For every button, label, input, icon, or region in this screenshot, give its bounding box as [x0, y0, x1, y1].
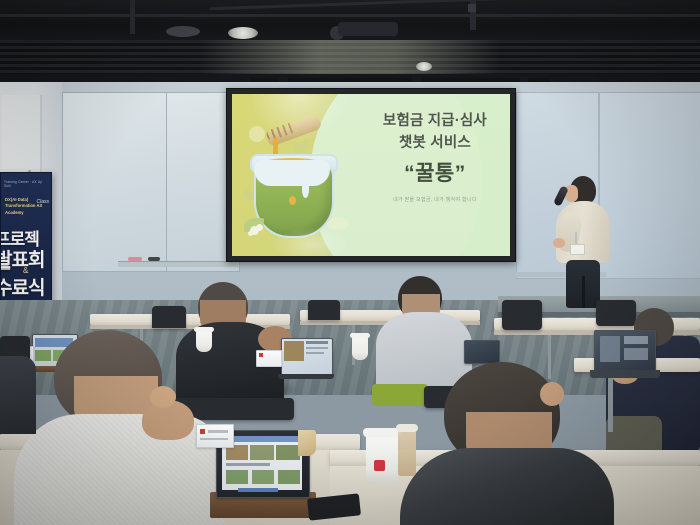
presenter-hand: [553, 238, 565, 248]
iced-drink-cup[interactable]: [398, 430, 416, 476]
projected-slide: 보험금 지급·심사 챗봇 서비스 “꿀통” 내가 받을 보험금, 내가 챙겨야 …: [232, 94, 510, 256]
honey-droplet: [289, 196, 296, 205]
cup-lid: [350, 333, 370, 338]
laptop[interactable]: [464, 340, 500, 364]
laptop-keyboard[interactable]: [590, 370, 660, 378]
audience-torso: [0, 356, 36, 434]
paper-coffee-cup[interactable]: [352, 336, 368, 360]
tablet-text-line: [306, 352, 324, 354]
table-leg: [608, 372, 613, 432]
laptop-window: [624, 348, 648, 360]
ceiling-lamp: [228, 27, 258, 39]
whiteboard-marker[interactable]: [128, 257, 142, 261]
banner-badge: Class: [36, 199, 49, 205]
slide-line-1: 보험금 지급·심사: [365, 110, 504, 132]
banner-korean-line-3: 수료식: [0, 273, 44, 300]
tablet-stand: [278, 374, 334, 379]
name-card-text: [208, 430, 228, 433]
tablet-thumbnail: [250, 445, 274, 460]
tablet-image: [284, 341, 304, 361]
chair[interactable]: [596, 300, 636, 326]
tablet-thumbnail: [276, 445, 300, 460]
table: [90, 314, 290, 325]
laptop-window: [624, 336, 648, 344]
recessed-ceiling-light: [416, 62, 432, 71]
whiteboard-marker[interactable]: [148, 257, 160, 261]
presenter: [548, 176, 616, 308]
jar-drip-overlay: [254, 160, 330, 186]
tablet-taskbar: [238, 488, 278, 492]
whiteboard-marker-tray: [118, 261, 238, 267]
tablet-case-flap: [298, 430, 316, 456]
shirt-texture: [14, 414, 226, 525]
slide-subtitle: 내가 받을 보험금, 내가 챙겨야 합니다: [365, 196, 504, 203]
slide-text-block: 보험금 지급·심사 챗봇 서비스 “꿀통” 내가 받을 보험금, 내가 챙겨야 …: [365, 110, 504, 203]
tablet-text-line: [306, 341, 328, 344]
laptop-window: [600, 336, 620, 362]
paper-coffee-cup[interactable]: [366, 434, 398, 484]
name-card-logo: [259, 353, 263, 357]
audience-torso: [400, 448, 614, 525]
tablet-text-line: [306, 347, 328, 349]
chair[interactable]: [372, 384, 428, 406]
name-card: [196, 424, 234, 448]
whiteboard: [62, 92, 168, 272]
table-leg: [548, 335, 551, 379]
audience-finger: [150, 386, 176, 408]
audience-ear: [540, 382, 564, 406]
presenter-leg-gap: [582, 276, 585, 308]
ceiling-light-reflection: [200, 40, 500, 78]
tablet-browser-bar: [222, 436, 302, 442]
chair[interactable]: [308, 300, 340, 320]
name-card-text: [200, 438, 228, 440]
flower-decoration: [250, 226, 259, 235]
cup-logo: [374, 460, 385, 471]
tablet-text-line: [226, 463, 270, 466]
tablet-thumbnail: [252, 470, 274, 484]
name-badge: [570, 244, 585, 255]
event-banner: Training Center · AX Up Skill DX(AI·Data…: [0, 172, 52, 306]
chair[interactable]: [502, 300, 542, 330]
presenter-hand-holding-mic: [566, 190, 578, 202]
projector-glare: [271, 227, 349, 256]
slide-line-2: 챗봇 서비스: [365, 132, 504, 154]
tablet-thumbnail: [278, 470, 300, 484]
chair[interactable]: [152, 306, 186, 328]
slide-brand-name: “꿀통”: [365, 157, 504, 187]
paper-coffee-cup[interactable]: [196, 330, 212, 352]
tablet-thumbnail: [35, 350, 51, 361]
cup-lid: [396, 424, 418, 432]
projection-screen: 보험금 지급·심사 챗봇 서비스 “꿀통” 내가 받을 보험금, 내가 챙겨야 …: [226, 88, 516, 262]
audience-torso: [376, 312, 472, 390]
tablet-thumbnail: [226, 470, 248, 484]
name-card-logo: [200, 429, 205, 434]
presentation-room-photo: 보험금 지급·심사 챗봇 서비스 “꿀통” 내가 받을 보험금, 내가 챙겨야 …: [0, 0, 700, 525]
cup-lid: [194, 327, 214, 332]
banner-top-line: Training Center · AX Up Skill: [4, 180, 48, 188]
